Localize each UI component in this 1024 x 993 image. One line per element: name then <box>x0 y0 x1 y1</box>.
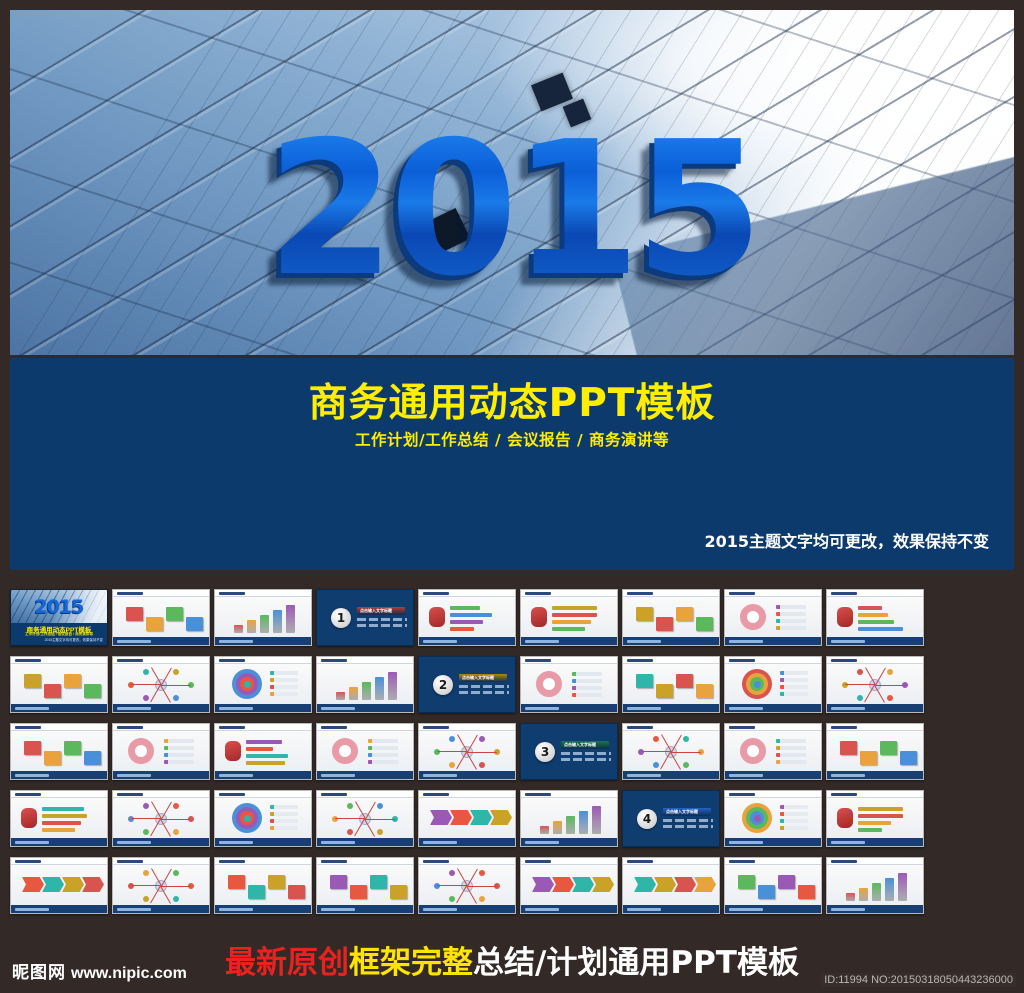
thumb-header-strip <box>725 724 821 731</box>
thumb-footer-line <box>729 774 763 777</box>
thumb-footer-line <box>321 774 355 777</box>
thumb-body <box>725 731 821 771</box>
thumb-footer-bar <box>521 637 617 645</box>
thumb-header-strip <box>521 657 617 664</box>
thumb-header-strip <box>11 657 107 664</box>
thumb-footer-bar <box>215 704 311 712</box>
thumb-footer-bar <box>623 704 719 712</box>
thumb-footer-line <box>321 707 355 710</box>
thumb-header-strip <box>215 657 311 664</box>
slide-thumbnail[interactable] <box>520 656 618 713</box>
thumb-footer-bar <box>419 838 515 846</box>
donut-trophy-legend-graphic <box>526 599 612 635</box>
thumb-footer-bar <box>521 905 617 913</box>
thumb-header-title-line <box>525 592 551 595</box>
thumb-footer-line <box>423 774 457 777</box>
donut-chart-people-graphic <box>730 800 816 836</box>
pie-slices-3d-graphic <box>832 666 918 702</box>
person-three-panels-graphic <box>730 733 816 769</box>
thumb-header-strip <box>419 791 515 798</box>
thumb-footer-line <box>321 841 355 844</box>
thumb-footer-line <box>525 707 559 710</box>
watermark-brand-url: www.nipic.com <box>71 965 187 983</box>
thumb-footer-line <box>117 908 151 911</box>
slide-thumbnail[interactable] <box>826 790 924 847</box>
venn-three-circles-graphic <box>628 867 714 903</box>
thumb-footer-bar <box>113 771 209 779</box>
x-cross-quadrant-graphic <box>16 800 102 836</box>
thumb-footer-bar <box>215 838 311 846</box>
thumb-body <box>521 798 617 838</box>
section-label-bar: 点击输入文字标题 <box>459 674 507 682</box>
hero-banner-image: 2015 <box>10 10 1014 355</box>
thumb-body <box>725 865 821 905</box>
slide-thumbnail[interactable] <box>418 790 516 847</box>
thumb-footer-line <box>831 841 865 844</box>
four-column-table-graphic <box>322 800 408 836</box>
person-speech-text-graphic <box>118 599 204 635</box>
tagline-part: 框架完整 <box>349 945 473 981</box>
thumb-header-title-line <box>831 726 857 729</box>
thumb-footer-bar <box>419 637 515 645</box>
thumb-header-title-line <box>321 793 347 796</box>
pyramid-eggs-row-graphic <box>832 733 918 769</box>
thumb-body <box>623 664 719 704</box>
slide-thumbnail[interactable] <box>724 723 822 780</box>
thumb-body <box>11 865 107 905</box>
thumb-header-title-line <box>117 793 143 796</box>
slide-thumbnail[interactable] <box>112 589 210 646</box>
thumb-body <box>419 798 515 838</box>
slide-thumbnail[interactable] <box>826 857 924 914</box>
thumb-footer-line <box>831 774 865 777</box>
thumb-body <box>113 597 209 637</box>
thumb-header-strip <box>725 858 821 865</box>
thumb-footer-line <box>219 707 253 710</box>
thumb-header-title-line <box>219 659 245 662</box>
thumb-header-strip <box>725 791 821 798</box>
thumb-footer-line <box>15 774 49 777</box>
slide-thumbnail[interactable] <box>520 857 618 914</box>
thumb-footer-line <box>219 640 253 643</box>
thumb-body <box>317 664 413 704</box>
slide-thumbnail[interactable] <box>826 656 924 713</box>
thumb-footer-bar <box>419 771 515 779</box>
thumb-header-title-line <box>627 726 653 729</box>
footer-bar: 最新原创框架完整总结/计划通用PPT模板 昵图网 www.nipic.com I… <box>0 933 1024 993</box>
thumb-header-title-line <box>15 793 41 796</box>
section-label: 点击输入文字标题 <box>564 742 596 748</box>
thumb-footer-bar <box>317 771 413 779</box>
slide-thumbnail-grid: 2015商务通用动态PPT模板工作计划/工作总结 / 会议报告 / 商务演讲等2… <box>10 589 1014 914</box>
thumb-header-title-line <box>729 860 755 863</box>
slide-thumbnail[interactable] <box>520 589 618 646</box>
thumb-header-title-line <box>117 592 143 595</box>
thumb-header-strip <box>419 590 515 597</box>
thumb-body <box>215 798 311 838</box>
thumb-footer-bar <box>11 905 107 913</box>
thumb-footer-bar <box>317 905 413 913</box>
thumb-header-title-line <box>525 860 551 863</box>
thumb-header-strip <box>317 858 413 865</box>
thumb-footer-line <box>831 640 865 643</box>
thumb-footer-line <box>831 908 865 911</box>
section-number: 3 <box>535 742 555 762</box>
thumb-footer-bar <box>827 838 923 846</box>
cover-year: 2015 <box>11 596 107 618</box>
thumb-footer-bar <box>827 637 923 645</box>
thumb-body <box>317 731 413 771</box>
slide-thumbnail[interactable] <box>724 790 822 847</box>
thumb-header-strip <box>215 858 311 865</box>
thumb-header-title-line <box>15 659 41 662</box>
section-number: 4 <box>637 809 657 829</box>
thumb-header-title-line <box>219 793 245 796</box>
thumb-header-title-line <box>423 726 449 729</box>
thumb-header-title-line <box>729 793 755 796</box>
thumb-footer-bar <box>11 771 107 779</box>
thumb-header-strip <box>11 724 107 731</box>
thumb-header-title-line <box>15 860 41 863</box>
three-column-compare-graphic <box>16 867 102 903</box>
thumb-header-title-line <box>219 726 245 729</box>
slide-thumbnail[interactable]: 3点击输入文字标题 <box>520 723 618 780</box>
hexagon-hub-nodes-graphic <box>424 800 510 836</box>
thumb-footer-bar <box>725 838 821 846</box>
thumb-header-strip <box>827 724 923 731</box>
slide-thumbnail[interactable] <box>316 656 414 713</box>
slide-thumbnail[interactable] <box>826 589 924 646</box>
thumb-header-strip <box>215 791 311 798</box>
thumb-footer-bar <box>215 771 311 779</box>
horizontal-bar-legend-graphic <box>118 800 204 836</box>
slide-thumbnail[interactable] <box>112 656 210 713</box>
arrows-converging-squares-graphic <box>832 599 918 635</box>
thumb-footer-bar <box>725 905 821 913</box>
thumb-footer-bar <box>11 838 107 846</box>
thumb-header-strip <box>11 858 107 865</box>
thumb-footer-line <box>729 707 763 710</box>
thumb-footer-line <box>627 707 661 710</box>
thumb-header-strip <box>317 724 413 731</box>
thumb-footer-bar <box>725 771 821 779</box>
stacked-color-bars-graphic <box>526 800 612 836</box>
thumb-body <box>725 597 821 637</box>
thumb-header-strip <box>113 590 209 597</box>
thumb-header-title-line <box>525 793 551 796</box>
thumb-header-strip <box>419 724 515 731</box>
page-root: 2015 商务通用动态PPT模板 工作计划/工作总结 / 会议报告 / 商务演讲… <box>0 0 1024 993</box>
thumb-footer-bar <box>725 704 821 712</box>
slide-thumbnail[interactable] <box>622 857 720 914</box>
thumb-header-title-line <box>219 860 245 863</box>
slide-thumbnail[interactable]: 4点击输入文字标题 <box>622 790 720 847</box>
thumb-body <box>113 664 209 704</box>
thumb-header-strip <box>827 791 923 798</box>
slide-thumbnail[interactable] <box>418 723 516 780</box>
thumb-header-strip <box>623 858 719 865</box>
slide-thumbnail[interactable] <box>520 790 618 847</box>
thumb-header-strip <box>827 657 923 664</box>
section-placeholder-lines <box>561 752 611 764</box>
thumb-header-title-line <box>729 592 755 595</box>
thumb-body <box>419 865 515 905</box>
section-label: 点击输入文字标题 <box>666 809 698 815</box>
thumb-footer-bar <box>215 905 311 913</box>
thumb-body <box>827 664 923 704</box>
slide-thumbnail[interactable] <box>214 857 312 914</box>
thumb-header-title-line <box>321 726 347 729</box>
thumb-body <box>215 664 311 704</box>
slide-thumbnail[interactable] <box>10 790 108 847</box>
bar-chart-rising-graphic <box>424 733 510 769</box>
thumb-body <box>113 798 209 838</box>
thumb-footer-bar <box>113 905 209 913</box>
thumb-footer-line <box>15 707 49 710</box>
thumb-body <box>521 597 617 637</box>
slide-thumbnail[interactable] <box>724 656 822 713</box>
org-tree-three-nodes-graphic <box>526 867 612 903</box>
section-number: 1 <box>331 608 351 628</box>
thumb-footer-bar <box>317 838 413 846</box>
circular-nodes-question-graphic <box>832 867 918 903</box>
thumb-body <box>725 798 821 838</box>
thumb-header-strip <box>725 590 821 597</box>
slide-thumbnail[interactable] <box>214 656 312 713</box>
banner-subtitle: 工作计划/工作总结 / 会议报告 / 商务演讲等 <box>10 428 1014 450</box>
thumb-header-strip <box>623 590 719 597</box>
thumb-header-title-line <box>831 659 857 662</box>
cycle-four-boxes-graphic <box>118 733 204 769</box>
thumb-footer-line <box>423 640 457 643</box>
thumb-body <box>317 798 413 838</box>
cover-note: 2015主题文字均可更改，效果保持不变 <box>45 637 103 642</box>
slide-thumbnail[interactable] <box>418 589 516 646</box>
slide-thumbnail[interactable]: 2点击输入文字标题 <box>418 656 516 713</box>
slide-thumbnail[interactable] <box>316 723 414 780</box>
concentric-rings-legend-graphic <box>730 867 816 903</box>
section-placeholder-lines <box>357 618 407 630</box>
thumb-body <box>623 865 719 905</box>
thumb-footer-line <box>117 841 151 844</box>
thumb-header-title-line <box>321 860 347 863</box>
thumb-body <box>827 865 923 905</box>
thumb-header-title-line <box>525 659 551 662</box>
thumb-footer-bar <box>827 905 923 913</box>
thumb-footer-line <box>117 774 151 777</box>
slide-thumbnail[interactable] <box>10 656 108 713</box>
slide-thumbnail[interactable] <box>214 589 312 646</box>
thumb-footer-bar <box>521 838 617 846</box>
section-number: 2 <box>433 675 453 695</box>
banner-title: 商务通用动态PPT模板 <box>10 372 1014 428</box>
thumb-body <box>11 664 107 704</box>
flow-boxes-arrows-graphic <box>118 867 204 903</box>
three-discs-compare-graphic <box>16 666 102 702</box>
slide-thumbnail[interactable] <box>316 790 414 847</box>
thumb-header-title-line <box>423 793 449 796</box>
image-id-code: ID:11994 NO:20150318050443236000 <box>821 973 1016 987</box>
slide-thumbnail[interactable] <box>622 589 720 646</box>
thumb-footer-line <box>525 640 559 643</box>
thumb-body <box>521 865 617 905</box>
thumb-footer-line <box>219 774 253 777</box>
site-watermark: 昵图网 www.nipic.com <box>12 958 187 983</box>
thumb-footer-line <box>729 841 763 844</box>
thumb-header-strip <box>521 791 617 798</box>
thumb-header-title-line <box>423 860 449 863</box>
thumb-header-title-line <box>117 659 143 662</box>
slide-thumbnail[interactable]: 2015商务通用动态PPT模板工作计划/工作总结 / 会议报告 / 商务演讲等2… <box>10 589 108 646</box>
slide-thumbnail[interactable] <box>112 723 210 780</box>
test-tubes-list-graphic <box>628 599 714 635</box>
thumb-body <box>623 597 719 637</box>
descending-arrow-bars-graphic <box>322 666 408 702</box>
thumb-footer-bar <box>419 905 515 913</box>
thumb-footer-bar <box>521 704 617 712</box>
thumb-header-title-line <box>729 726 755 729</box>
funnel-spheres-chain-graphic <box>220 800 306 836</box>
thumb-footer-line <box>627 640 661 643</box>
thumb-footer-line <box>525 908 559 911</box>
thumb-body <box>215 865 311 905</box>
slide-thumbnail[interactable] <box>10 857 108 914</box>
figure-orbit-spheres-graphic <box>526 666 612 702</box>
thumb-body <box>419 597 515 637</box>
chevron-steps-number-one-graphic <box>118 666 204 702</box>
thumb-footer-bar <box>113 838 209 846</box>
question-mark-list-graphic <box>220 599 306 635</box>
thumb-header-title-line <box>627 659 653 662</box>
radial-starburst-nodes-graphic <box>730 599 816 635</box>
thumb-header-strip <box>419 858 515 865</box>
thumb-body <box>725 664 821 704</box>
watermark-brand-cn: 昵图网 <box>12 958 66 983</box>
thumb-footer-line <box>423 841 457 844</box>
thumb-header-title-line <box>219 592 245 595</box>
thumb-header-strip <box>113 657 209 664</box>
thumb-body <box>113 865 209 905</box>
thumb-header-strip <box>827 858 923 865</box>
slide-thumbnail[interactable] <box>622 723 720 780</box>
slide-thumbnail[interactable] <box>10 723 108 780</box>
section-label: 点击输入文字标题 <box>462 675 494 681</box>
thumb-header-title-line <box>831 592 857 595</box>
slide-thumbnail[interactable] <box>724 589 822 646</box>
thumb-header-strip <box>215 590 311 597</box>
flower-petals-five-graphic <box>220 733 306 769</box>
banner-note: 2015主题文字均可更改，效果保持不变 <box>704 528 989 552</box>
slide-thumbnail[interactable] <box>112 790 210 847</box>
thumb-body <box>521 664 617 704</box>
thumb-header-strip <box>827 590 923 597</box>
thumb-footer-bar <box>317 704 413 712</box>
thumb-footer-bar <box>215 637 311 645</box>
thumb-header-title-line <box>117 860 143 863</box>
thumb-footer-line <box>729 908 763 911</box>
section-placeholder-lines <box>663 819 713 831</box>
slide-thumbnail[interactable] <box>724 857 822 914</box>
tagline-part: 总结/计划通用PPT模板 <box>473 945 799 981</box>
thumb-header-strip <box>521 858 617 865</box>
people-ladder-steps-graphic <box>424 599 510 635</box>
slide-thumbnail[interactable] <box>214 790 312 847</box>
thumb-body <box>419 731 515 771</box>
thumb-footer-bar <box>827 704 923 712</box>
colored-pencils-row-graphic <box>730 666 816 702</box>
thumb-header-strip <box>215 724 311 731</box>
slide-thumbnail[interactable] <box>418 857 516 914</box>
thumb-footer-line <box>321 908 355 911</box>
thumb-body <box>317 865 413 905</box>
up-down-arrows-pair-graphic <box>322 867 408 903</box>
thumb-body <box>215 597 311 637</box>
four-floating-cards-graphic <box>220 666 306 702</box>
thumb-body <box>827 597 923 637</box>
thumb-body <box>113 731 209 771</box>
section-label-bar: 点击输入文字标题 <box>561 741 609 749</box>
thumb-header-title-line <box>15 726 41 729</box>
thumb-header-title-line <box>627 860 653 863</box>
bubble-cards-tools-graphic <box>16 733 102 769</box>
thumb-header-strip <box>521 590 617 597</box>
section-label-bar: 点击输入文字标题 <box>663 808 711 816</box>
tagline-part: 最新原创 <box>225 945 349 981</box>
thumb-body <box>827 798 923 838</box>
percent-hexagon-cluster-graphic <box>220 867 306 903</box>
thumb-header-title-line <box>831 793 857 796</box>
thumb-footer-line <box>117 707 151 710</box>
thumb-footer-line <box>627 908 661 911</box>
thumb-footer-line <box>219 841 253 844</box>
title-banner: 商务通用动态PPT模板 工作计划/工作总结 / 会议报告 / 商务演讲等 201… <box>10 358 1014 570</box>
section-placeholder-lines <box>459 685 509 697</box>
slide-thumbnail[interactable] <box>214 723 312 780</box>
staircase-businessman-graphic <box>628 666 714 702</box>
thumb-footer-line <box>15 841 49 844</box>
thumb-footer-line <box>525 841 559 844</box>
slide-thumbnail[interactable] <box>112 857 210 914</box>
slide-thumbnail[interactable] <box>826 723 924 780</box>
slide-thumbnail[interactable]: 1点击输入文字标题 <box>316 589 414 646</box>
thumb-header-title-line <box>729 659 755 662</box>
slide-thumbnail[interactable] <box>622 656 720 713</box>
thumb-header-strip <box>113 724 209 731</box>
thumb-body <box>11 731 107 771</box>
section-label: 点击输入文字标题 <box>360 608 392 614</box>
thumb-body <box>623 731 719 771</box>
thumb-body <box>11 798 107 838</box>
thumb-header-strip <box>623 724 719 731</box>
thumb-header-strip <box>725 657 821 664</box>
thumb-footer-line <box>15 908 49 911</box>
thumb-footer-line <box>423 908 457 911</box>
arrow-up-leaf-list-graphic <box>832 800 918 836</box>
section-label-bar: 点击输入文字标题 <box>357 607 405 615</box>
thumb-footer-bar <box>623 637 719 645</box>
hanging-bulbs-timeline-graphic <box>628 733 714 769</box>
thumb-body <box>827 731 923 771</box>
thumb-header-strip <box>113 791 209 798</box>
thumb-footer-bar <box>725 637 821 645</box>
thumb-header-strip <box>113 858 209 865</box>
thumb-header-title-line <box>321 659 347 662</box>
thumb-footer-bar <box>827 771 923 779</box>
thumb-header-title-line <box>117 726 143 729</box>
slide-thumbnail[interactable] <box>316 857 414 914</box>
thumb-footer-line <box>627 774 661 777</box>
thumb-header-strip <box>317 791 413 798</box>
